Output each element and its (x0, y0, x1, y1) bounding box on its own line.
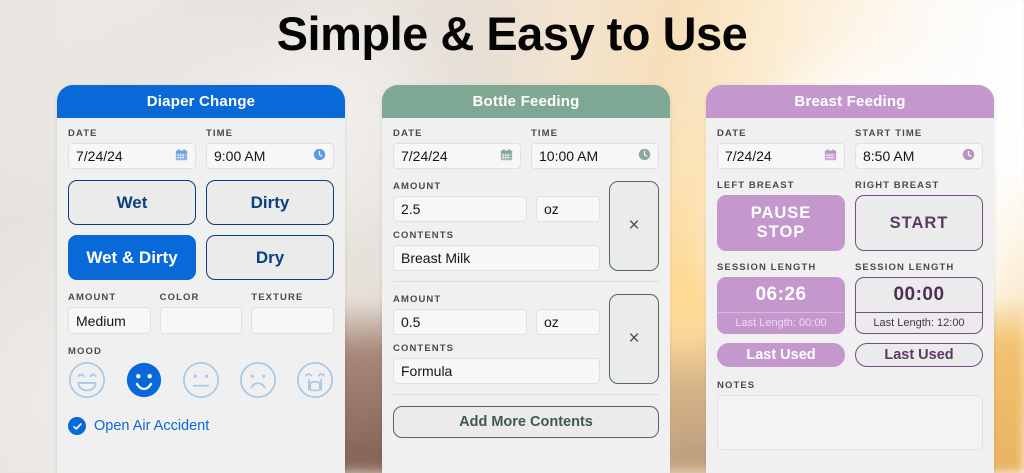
spacer (196, 128, 206, 169)
bottle-entry-1: AMOUNT 2.5 . oz CONTENTS Breast Milk (393, 181, 659, 271)
diaper-texture-label: TEXTURE (251, 292, 334, 303)
right-breast-group: RIGHT BREAST START (855, 180, 983, 251)
diaper-choice-wet-and-dirty[interactable]: Wet & Dirty (68, 235, 196, 280)
spacer (845, 128, 855, 169)
calendar-icon[interactable] (500, 148, 513, 164)
diaper-datetime-row: DATE 7/24/24 TIME 9:00 AM (68, 128, 334, 169)
diaper-choice-dirty[interactable]: Dirty (206, 180, 334, 225)
bottle-entry-1-contents-label: CONTENTS (393, 230, 600, 241)
bottle-divider-1 (393, 281, 659, 282)
bottle-time-input[interactable]: 10:00 AM (531, 143, 659, 169)
breast-notes-label: NOTES (717, 380, 983, 391)
left-breast-button-line2: STOP (757, 223, 806, 241)
breast-side-labels-row: LEFT BREAST PAUSE STOP RIGHT BREAST STAR… (717, 180, 983, 251)
clock-icon[interactable] (313, 148, 326, 164)
diaper-choice-dry[interactable]: Dry (206, 235, 334, 280)
clock-icon[interactable] (638, 148, 651, 164)
bottle-entry-2-remove-button[interactable]: × (609, 294, 659, 384)
breast-notes-input[interactable] (717, 395, 983, 450)
diaper-amount-value: Medium (76, 313, 143, 329)
right-session-last-length: Last Length: 12:00 (856, 312, 982, 333)
left-session-time: 06:26 (718, 278, 844, 312)
bottle-divider-2 (393, 394, 659, 395)
diaper-mood-row (68, 361, 334, 404)
bottle-card-title: Bottle Feeding (382, 85, 670, 118)
diaper-detail-row: AMOUNT Medium COLOR TEXTURE (68, 292, 334, 334)
checkmark-icon[interactable] (68, 417, 86, 435)
open-air-accident-checkbox-row[interactable]: Open Air Accident (68, 417, 334, 435)
bottle-entry-2-amount-label: AMOUNT (393, 294, 527, 305)
bottle-entry-1-unit-value: oz (544, 201, 592, 217)
diaper-time-label: TIME (206, 128, 334, 139)
left-breast-label: LEFT BREAST (717, 180, 845, 191)
left-session-group: SESSION LENGTH 06:26 Last Length: 00:00 … (717, 262, 845, 367)
breast-date-label: DATE (717, 128, 845, 139)
bottle-date-input[interactable]: 7/24/24 (393, 143, 521, 169)
spacer (521, 128, 531, 169)
bottle-entry-1-contents-value: Breast Milk (401, 250, 592, 266)
calendar-icon[interactable] (175, 148, 188, 164)
diaper-amount-input[interactable]: Medium (68, 307, 151, 334)
diaper-date-value: 7/24/24 (76, 148, 175, 164)
bottle-entry-1-remove-button[interactable]: × (609, 181, 659, 271)
breast-card-title: Breast Feeding (706, 85, 994, 118)
diaper-color-group: COLOR (160, 292, 243, 334)
diaper-color-label: COLOR (160, 292, 243, 303)
diaper-date-input[interactable]: 7/24/24 (68, 143, 196, 169)
breast-start-time-group: START TIME 8:50 AM (855, 128, 983, 169)
left-session-box[interactable]: 06:26 Last Length: 00:00 (717, 277, 845, 334)
spacer (196, 235, 206, 280)
bottle-entry-2-amount-row: AMOUNT 0.5 . oz (393, 294, 600, 335)
diaper-date-group: DATE 7/24/24 (68, 128, 196, 169)
bottle-entry-2: AMOUNT 0.5 . oz CONTENTS Formula (393, 294, 659, 384)
diaper-date-label: DATE (68, 128, 196, 139)
mood-happy-icon[interactable] (125, 361, 163, 404)
right-breast-label: RIGHT BREAST (855, 180, 983, 191)
breast-start-time-value: 8:50 AM (863, 148, 962, 164)
bottle-entry-2-fields: AMOUNT 0.5 . oz CONTENTS Formula (393, 294, 600, 384)
breast-date-group: DATE 7/24/24 (717, 128, 845, 169)
bottle-time-value: 10:00 AM (539, 148, 638, 164)
bottle-entry-1-amount-row: AMOUNT 2.5 . oz (393, 181, 600, 222)
left-breast-button-line1: PAUSE (751, 204, 812, 222)
right-session-group: SESSION LENGTH 00:00 Last Length: 12:00 … (855, 262, 983, 367)
diaper-color-input[interactable] (160, 307, 243, 334)
bottle-entry-1-amount-input[interactable]: 2.5 (393, 196, 527, 222)
bottle-entry-1-unit-input[interactable]: oz (536, 196, 600, 222)
breast-start-time-input[interactable]: 8:50 AM (855, 143, 983, 169)
right-session-box[interactable]: 00:00 Last Length: 12:00 (855, 277, 983, 334)
breast-session-row: SESSION LENGTH 06:26 Last Length: 00:00 … (717, 262, 983, 367)
bottle-entry-1-amount-label: AMOUNT (393, 181, 527, 192)
bottle-entry-2-contents-input[interactable]: Formula (393, 358, 600, 384)
mood-crying-icon[interactable] (296, 361, 334, 404)
mood-sad-icon[interactable] (239, 361, 277, 404)
breast-date-input[interactable]: 7/24/24 (717, 143, 845, 169)
breast-date-value: 7/24/24 (725, 148, 824, 164)
breast-start-time-label: START TIME (855, 128, 983, 139)
left-breast-group: LEFT BREAST PAUSE STOP (717, 180, 845, 251)
bottle-entry-1-contents-input[interactable]: Breast Milk (393, 245, 600, 271)
bottle-entry-2-contents-value: Formula (401, 363, 592, 379)
left-last-used-button[interactable]: Last Used (717, 343, 845, 367)
right-session-time: 00:00 (856, 278, 982, 312)
bottle-entry-1-unit-group: . oz (536, 181, 600, 222)
right-last-used-button[interactable]: Last Used (855, 343, 983, 367)
diaper-texture-group: TEXTURE (251, 292, 334, 334)
bottle-feeding-card: Bottle Feeding DATE 7/24/24 TIME 10:00 A… (382, 85, 670, 473)
calendar-icon[interactable] (824, 148, 837, 164)
bottle-date-group: DATE 7/24/24 (393, 128, 521, 169)
left-breast-pause-stop-button[interactable]: PAUSE STOP (717, 195, 845, 251)
diaper-choice-wet[interactable]: Wet (68, 180, 196, 225)
bottle-datetime-row: DATE 7/24/24 TIME 10:00 AM (393, 128, 659, 169)
spacer (845, 180, 855, 251)
diaper-amount-group: AMOUNT Medium (68, 292, 151, 334)
diaper-time-input[interactable]: 9:00 AM (206, 143, 334, 169)
bottle-entry-2-unit-value: oz (544, 314, 592, 330)
diaper-time-group: TIME 9:00 AM (206, 128, 334, 169)
bottle-time-label: TIME (531, 128, 659, 139)
page-headline: Simple & Easy to Use (0, 6, 1024, 61)
bottle-time-group: TIME 10:00 AM (531, 128, 659, 169)
bottle-entry-1-amount-value: 2.5 (401, 201, 519, 217)
mood-very-happy-icon[interactable] (68, 361, 106, 404)
bottle-entry-2-amount-input[interactable]: 0.5 (393, 309, 527, 335)
breast-datetime-row: DATE 7/24/24 START TIME 8:50 AM (717, 128, 983, 169)
diaper-change-card: Diaper Change DATE 7/24/24 TIME 9:00 AM (57, 85, 345, 473)
bottle-entry-1-fields: AMOUNT 2.5 . oz CONTENTS Breast Milk (393, 181, 600, 271)
diaper-texture-input[interactable] (251, 307, 334, 334)
add-more-contents-button[interactable]: Add More Contents (393, 406, 659, 438)
diaper-mood-label: MOOD (68, 346, 334, 357)
open-air-accident-label: Open Air Accident (94, 418, 209, 434)
left-session-length-label: SESSION LENGTH (717, 262, 845, 273)
left-session-last-length: Last Length: 00:00 (718, 312, 844, 333)
bottle-entry-2-unit-input[interactable]: oz (536, 309, 600, 335)
diaper-amount-label: AMOUNT (68, 292, 151, 303)
bottle-entry-2-contents-label: CONTENTS (393, 343, 600, 354)
mood-neutral-icon[interactable] (182, 361, 220, 404)
bottle-entry-2-unit-group: . oz (536, 294, 600, 335)
diaper-time-value: 9:00 AM (214, 148, 313, 164)
right-session-length-label: SESSION LENGTH (855, 262, 983, 273)
breast-feeding-card: Breast Feeding DATE 7/24/24 START TIME 8… (706, 85, 994, 473)
bottle-date-value: 7/24/24 (401, 148, 500, 164)
spacer (196, 180, 206, 225)
diaper-choice-grid: Wet Dirty Wet & Dirty Dry (68, 180, 334, 280)
diaper-card-title: Diaper Change (57, 85, 345, 118)
bottle-entry-2-amount-value: 0.5 (401, 314, 519, 330)
spacer (845, 262, 855, 367)
bottle-date-label: DATE (393, 128, 521, 139)
clock-icon[interactable] (962, 148, 975, 164)
right-breast-start-button[interactable]: START (855, 195, 983, 251)
